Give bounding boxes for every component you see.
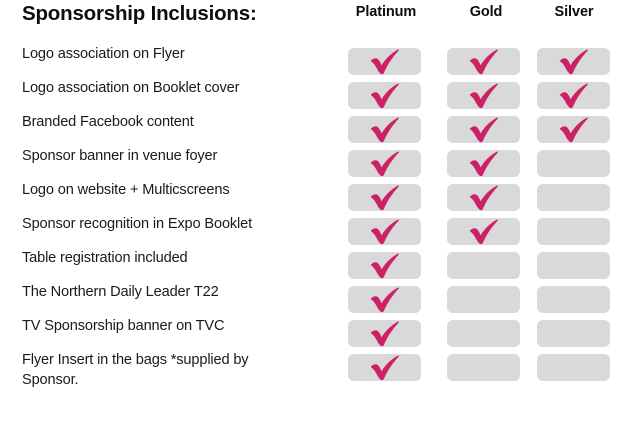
check-icon bbox=[368, 219, 402, 245]
row-label-line1: Logo association on Flyer bbox=[22, 46, 185, 62]
cell-platinum-checked bbox=[348, 354, 421, 381]
cell-platinum-checked bbox=[348, 150, 421, 177]
check-icon bbox=[368, 151, 402, 177]
table-row: The Northern Daily Leader T22 bbox=[0, 282, 636, 316]
check-icon bbox=[368, 49, 402, 75]
table-row: Branded Facebook content bbox=[0, 112, 636, 146]
table-row: TV Sponsorship banner on TVC bbox=[0, 316, 636, 350]
row-label-line1: Logo association on Booklet cover bbox=[22, 80, 239, 96]
table-row: Table registration included bbox=[0, 248, 636, 282]
cell-gold-checked bbox=[447, 82, 520, 109]
check-icon bbox=[368, 117, 402, 143]
row-label-line1: Logo on website + Multicscreens bbox=[22, 182, 229, 198]
table-row: Logo on website + Multicscreens bbox=[0, 180, 636, 214]
cell-gold-checked bbox=[447, 116, 520, 143]
check-icon bbox=[467, 49, 501, 75]
cell-silver-empty bbox=[537, 184, 610, 211]
cell-gold-checked bbox=[447, 150, 520, 177]
check-icon bbox=[557, 117, 591, 143]
row-label-line1: Flyer Insert in the bags *supplied by bbox=[22, 352, 248, 368]
cell-silver-checked bbox=[537, 116, 610, 143]
cell-platinum-checked bbox=[348, 286, 421, 313]
cell-platinum-checked bbox=[348, 252, 421, 279]
cell-silver-empty bbox=[537, 354, 610, 381]
cell-platinum-checked bbox=[348, 218, 421, 245]
row-label-line1: The Northern Daily Leader T22 bbox=[22, 284, 219, 300]
row-label-line1: Branded Facebook content bbox=[22, 114, 194, 130]
table-row: Sponsor recognition in Expo Booklet bbox=[0, 214, 636, 248]
cell-silver-empty bbox=[537, 252, 610, 279]
cell-silver-empty bbox=[537, 150, 610, 177]
row-label: The Northern Daily Leader T22 bbox=[22, 282, 338, 302]
row-label: Table registration included bbox=[22, 248, 338, 268]
cell-silver-checked bbox=[537, 82, 610, 109]
cell-gold-checked bbox=[447, 48, 520, 75]
cell-silver-checked bbox=[537, 48, 610, 75]
row-label: Flyer Insert in the bags *supplied bySpo… bbox=[22, 350, 338, 390]
row-label-line1: Sponsor recognition in Expo Booklet bbox=[22, 216, 252, 232]
sponsorship-inclusions-table: Sponsorship Inclusions: Platinum Gold Si… bbox=[0, 0, 636, 422]
check-icon bbox=[368, 253, 402, 279]
table-row: Flyer Insert in the bags *supplied bySpo… bbox=[0, 350, 636, 384]
row-label-line1: Sponsor banner in venue foyer bbox=[22, 148, 217, 164]
cell-gold-checked bbox=[447, 218, 520, 245]
cell-gold-empty bbox=[447, 286, 520, 313]
check-icon bbox=[368, 83, 402, 109]
table-row: Logo association on Flyer bbox=[0, 44, 636, 78]
cell-platinum-checked bbox=[348, 320, 421, 347]
row-label-line1: TV Sponsorship banner on TVC bbox=[22, 318, 224, 334]
check-icon bbox=[467, 151, 501, 177]
cell-platinum-checked bbox=[348, 184, 421, 211]
check-icon bbox=[368, 287, 402, 313]
check-icon bbox=[368, 321, 402, 347]
cell-platinum-checked bbox=[348, 48, 421, 75]
row-label: Logo on website + Multicscreens bbox=[22, 180, 338, 200]
check-icon bbox=[467, 83, 501, 109]
row-label: Sponsor recognition in Expo Booklet bbox=[22, 214, 338, 234]
check-icon bbox=[467, 185, 501, 211]
row-label-line1: Table registration included bbox=[22, 250, 188, 266]
cell-gold-empty bbox=[447, 252, 520, 279]
cell-platinum-checked bbox=[348, 116, 421, 143]
check-icon bbox=[368, 185, 402, 211]
row-label: Logo association on Booklet cover bbox=[22, 78, 338, 98]
cell-gold-empty bbox=[447, 354, 520, 381]
row-label: Sponsor banner in venue foyer bbox=[22, 146, 338, 166]
table-body: Logo association on FlyerLogo associatio… bbox=[0, 0, 636, 422]
cell-gold-checked bbox=[447, 184, 520, 211]
check-icon bbox=[467, 117, 501, 143]
table-row: Logo association on Booklet cover bbox=[0, 78, 636, 112]
table-row: Sponsor banner in venue foyer bbox=[0, 146, 636, 180]
cell-silver-empty bbox=[537, 320, 610, 347]
cell-silver-empty bbox=[537, 218, 610, 245]
cell-platinum-checked bbox=[348, 82, 421, 109]
check-icon bbox=[557, 83, 591, 109]
row-label: TV Sponsorship banner on TVC bbox=[22, 316, 338, 336]
cell-silver-empty bbox=[537, 286, 610, 313]
check-icon bbox=[467, 219, 501, 245]
row-label: Logo association on Flyer bbox=[22, 44, 338, 64]
row-label-line2: Sponsor. bbox=[22, 370, 338, 390]
cell-gold-empty bbox=[447, 320, 520, 347]
check-icon bbox=[368, 355, 402, 381]
row-label: Branded Facebook content bbox=[22, 112, 338, 132]
check-icon bbox=[557, 49, 591, 75]
